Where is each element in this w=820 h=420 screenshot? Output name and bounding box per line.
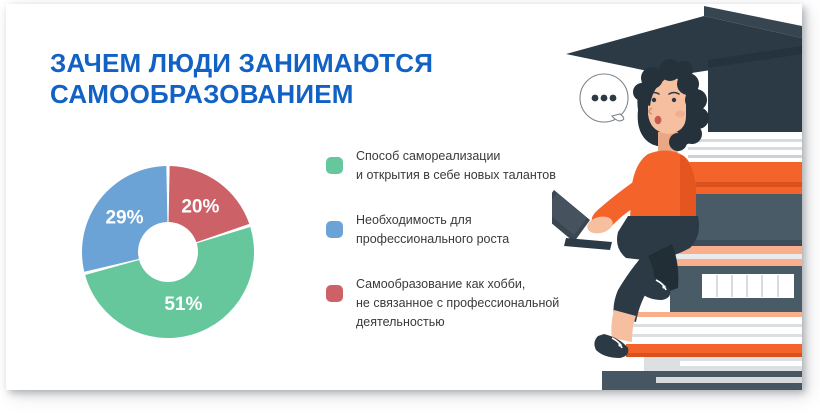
book-gray-base xyxy=(644,357,802,371)
legend-swatch-blue xyxy=(326,221,343,238)
book-slate-base xyxy=(602,371,802,390)
donut-chart: 20% 51% 29% xyxy=(78,162,258,342)
legend-label-hobby: Самообразование как хобби, не связанное … xyxy=(356,275,559,332)
donut-label-blue: 29% xyxy=(105,207,143,228)
illustration-svg xyxy=(552,4,802,390)
book-stack-lower xyxy=(626,312,802,357)
donut-hole xyxy=(138,222,198,282)
book-peach-stripe xyxy=(674,246,802,266)
slide-card: Зачем люди занимаются самообразованием 2… xyxy=(6,4,802,390)
legend-swatch-green xyxy=(326,157,343,174)
legend-label-self-realization: Способ самореализации и открытия в себе … xyxy=(356,147,556,185)
book-slate-with-tabs xyxy=(670,266,802,312)
legend-label-professional-growth: Необходимость для профессионального рост… xyxy=(356,211,509,249)
donut-label-green: 51% xyxy=(164,294,202,315)
illustration-woman-reading xyxy=(552,4,802,390)
page-title: Зачем люди занимаются самообразованием xyxy=(50,48,520,110)
legend-swatch-red xyxy=(326,285,343,302)
book-stack-top xyxy=(688,134,802,162)
ellipsis-thought-bubble-icon xyxy=(580,74,628,122)
donut-label-red: 20% xyxy=(181,196,219,217)
book-orange-upper xyxy=(682,162,802,194)
donut-chart-svg: 20% 51% 29% xyxy=(78,162,258,342)
slide-screenshot: Зачем люди занимаются самообразованием 2… xyxy=(0,0,820,420)
